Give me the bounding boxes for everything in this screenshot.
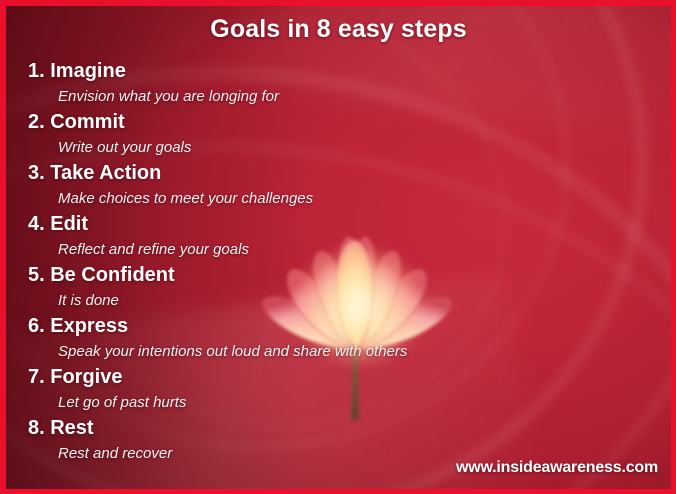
step-heading: 8. Rest [6,415,671,441]
list-item: 7. Forgive Let go of past hurts [6,364,671,415]
step-heading: 5. Be Confident [6,262,671,288]
poster-canvas: Goals in 8 easy steps 1. Imagine Envisio… [6,6,671,489]
list-item: 6. Express Speak your intentions out lou… [6,313,671,364]
step-heading: 1. Imagine [6,58,671,84]
list-item: 3. Take Action Make choices to meet your… [6,160,671,211]
step-detail: It is done [6,288,671,313]
step-detail: Envision what you are longing for [6,84,671,109]
step-detail: Write out your goals [6,135,671,160]
page-title: Goals in 8 easy steps [6,15,671,44]
step-detail: Make choices to meet your challenges [6,186,671,211]
step-heading: 7. Forgive [6,364,671,390]
list-item: 4. Edit Reflect and refine your goals [6,211,671,262]
list-item: 2. Commit Write out your goals [6,109,671,160]
step-heading: 2. Commit [6,109,671,135]
step-detail: Reflect and refine your goals [6,237,671,262]
goals-poster: Goals in 8 easy steps 1. Imagine Envisio… [0,0,676,494]
website-url: www.insideawareness.com [456,459,658,477]
list-item: 5. Be Confident It is done [6,262,671,313]
list-item: 1. Imagine Envision what you are longing… [6,58,671,109]
step-heading: 4. Edit [6,211,671,237]
step-heading: 3. Take Action [6,160,671,186]
step-detail: Speak your intentions out loud and share… [6,339,671,364]
step-heading: 6. Express [6,313,671,339]
steps-list: 1. Imagine Envision what you are longing… [6,58,671,466]
step-detail: Let go of past hurts [6,390,671,415]
